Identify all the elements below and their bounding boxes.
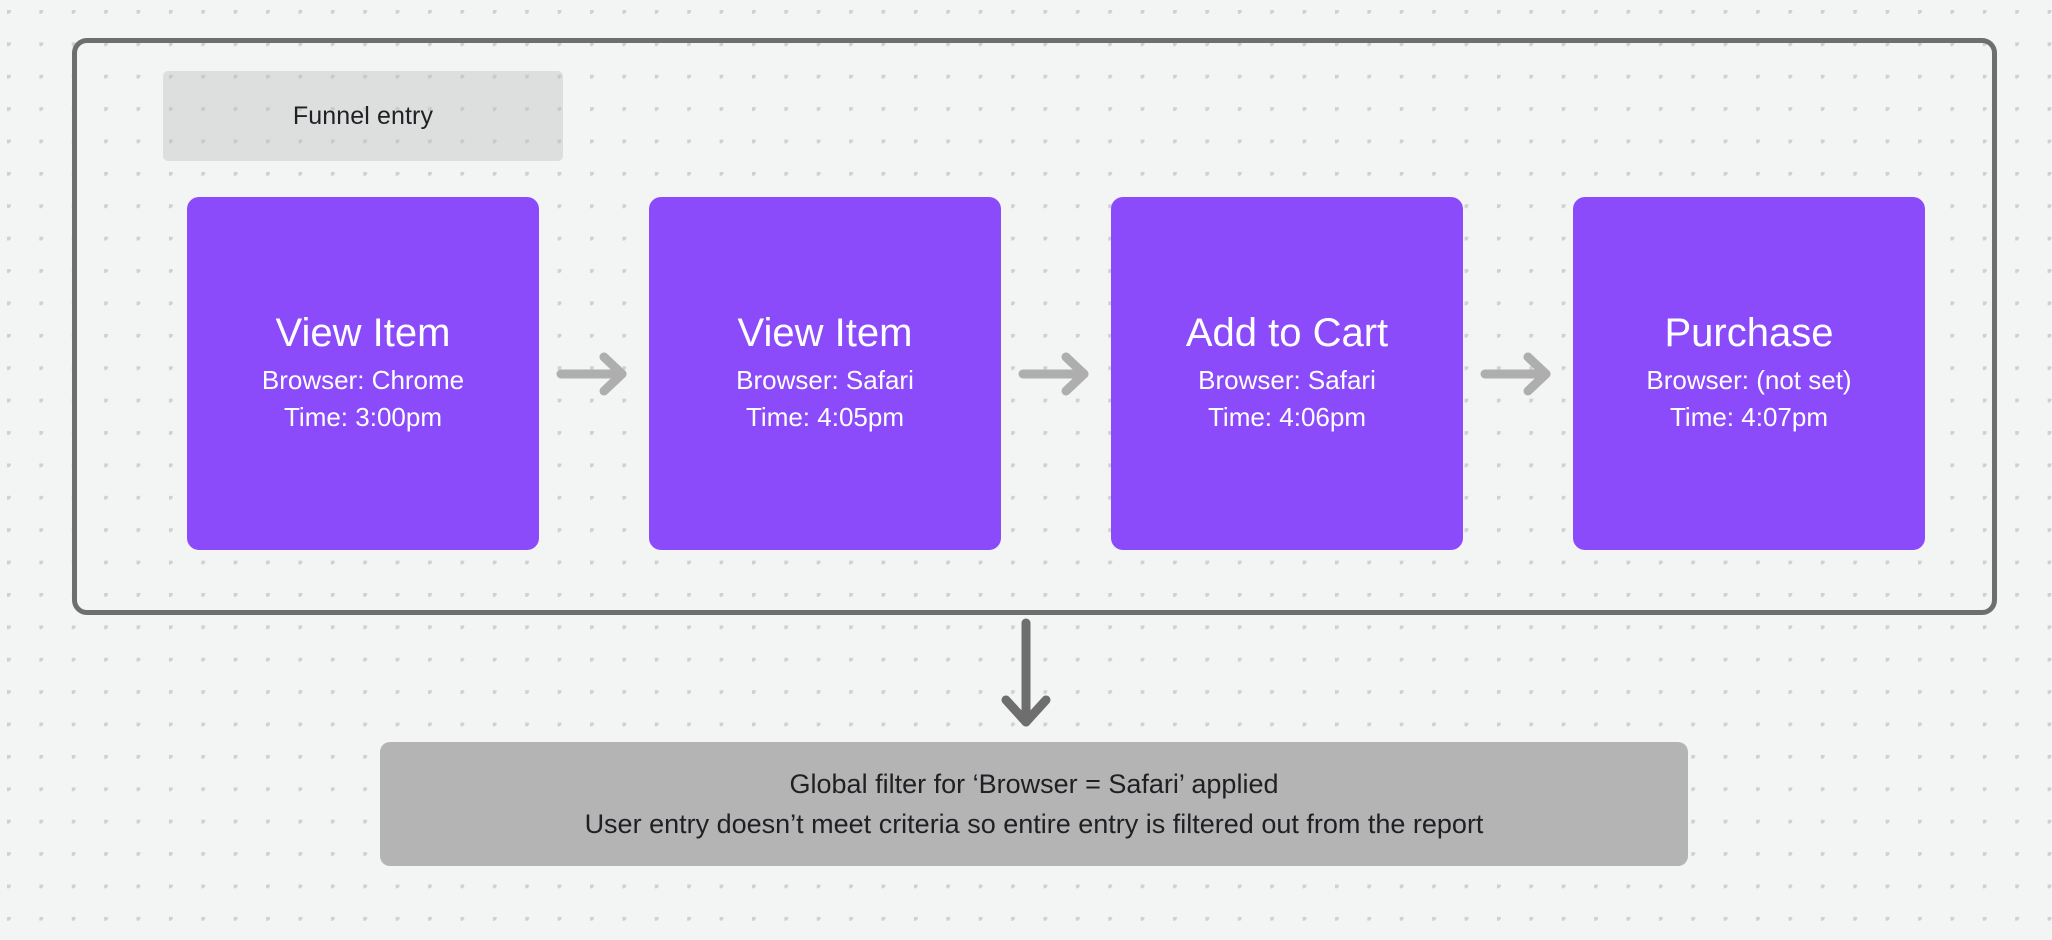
funnel-step-card-3[interactable]: Add to Cart Browser: Safari Time: 4:06pm	[1111, 197, 1463, 550]
arrow-right-icon	[556, 351, 632, 397]
funnel-entry-label: Funnel entry	[163, 71, 563, 161]
funnel-step-card-4[interactable]: Purchase Browser: (not set) Time: 4:07pm	[1573, 197, 1925, 550]
filter-note-line-2: User entry doesn’t meet criteria so enti…	[585, 804, 1484, 845]
arrow-right-icon	[1018, 351, 1094, 397]
step-title: View Item	[276, 311, 451, 356]
funnel-steps-row: View Item Browser: Chrome Time: 3:00pm V…	[187, 197, 1925, 550]
funnel-step-card-1[interactable]: View Item Browser: Chrome Time: 3:00pm	[187, 197, 539, 550]
step-connector-arrow-3	[1463, 197, 1573, 550]
funnel-entry-label-text: Funnel entry	[293, 102, 433, 131]
arrow-down-icon	[1000, 618, 1052, 730]
step-browser: Browser: (not set)	[1646, 362, 1851, 399]
funnel-to-note-connector	[1000, 618, 1052, 730]
step-title: Purchase	[1665, 311, 1834, 356]
step-connector-arrow-1	[539, 197, 649, 550]
funnel-step-card-2[interactable]: View Item Browser: Safari Time: 4:05pm	[649, 197, 1001, 550]
step-browser: Browser: Safari	[736, 362, 914, 399]
step-time: Time: 3:00pm	[284, 399, 442, 436]
filter-note-line-1: Global filter for ‘Browser = Safari’ app…	[790, 764, 1279, 805]
diagram-canvas: Funnel entry View Item Browser: Chrome T…	[0, 0, 2052, 940]
global-filter-note: Global filter for ‘Browser = Safari’ app…	[380, 742, 1688, 866]
arrow-right-icon	[1480, 351, 1556, 397]
step-time: Time: 4:06pm	[1208, 399, 1366, 436]
step-connector-arrow-2	[1001, 197, 1111, 550]
step-browser: Browser: Chrome	[262, 362, 464, 399]
step-time: Time: 4:05pm	[746, 399, 904, 436]
step-title: View Item	[738, 311, 913, 356]
step-time: Time: 4:07pm	[1670, 399, 1828, 436]
step-browser: Browser: Safari	[1198, 362, 1376, 399]
step-title: Add to Cart	[1186, 311, 1388, 356]
